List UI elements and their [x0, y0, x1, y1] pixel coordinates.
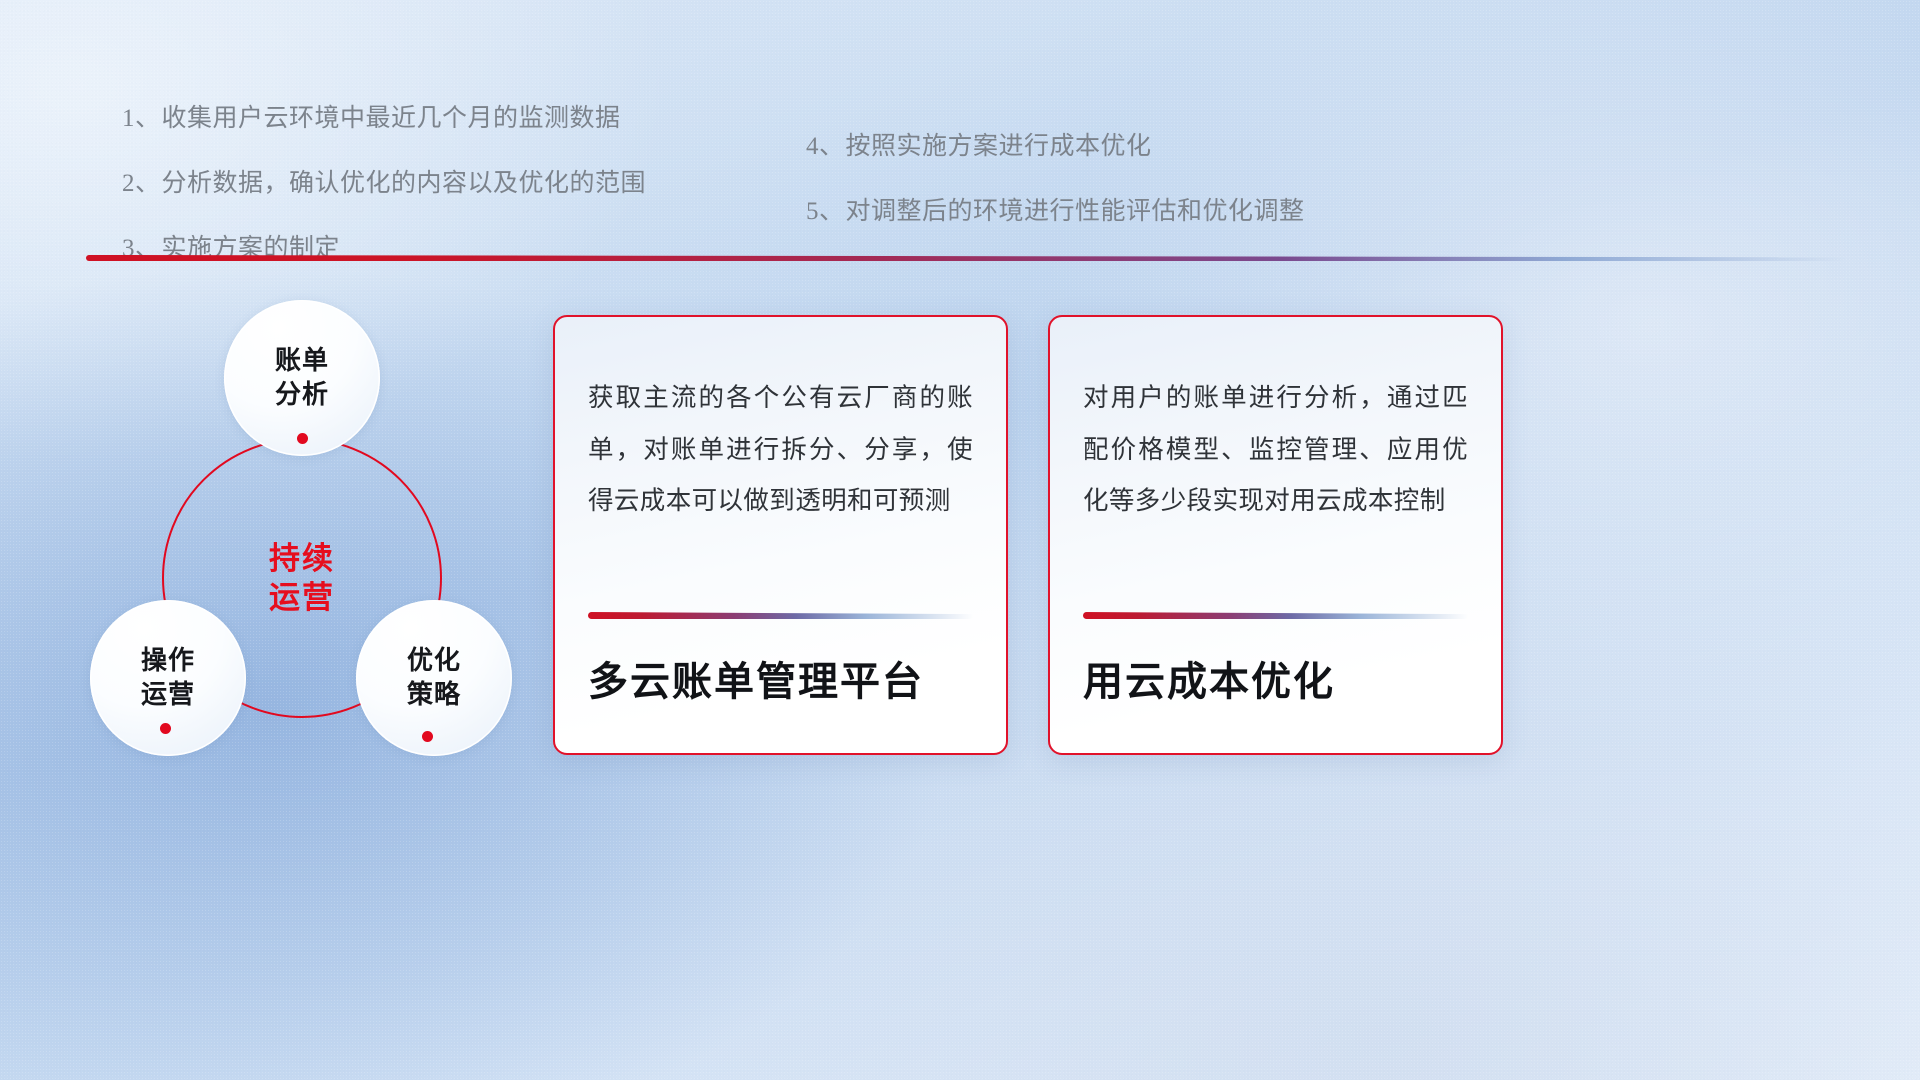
- cycle-center-label: 持续运营: [162, 438, 442, 718]
- cycle-center-line1: 持续: [269, 541, 335, 576]
- step-item: 4、 按照实施方案进行成本优化: [806, 126, 1305, 162]
- card-divider-rule: [1083, 612, 1468, 619]
- card-divider-rule: [588, 612, 973, 619]
- card-body-text: 获取主流的各个公有云厂商的账单，对账单进行拆分、分享，使得云成本可以做到透明和可…: [588, 373, 973, 528]
- card-title: 用云成本优化: [1083, 619, 1468, 753]
- bubble-label: 账单 分析: [275, 344, 329, 412]
- step-item: 1、 收集用户云环境中最近几个月的监测数据: [122, 98, 646, 134]
- step-item: 5、 对调整后的环境进行性能评估和优化调整: [806, 191, 1305, 227]
- steps-right-column: 4、 按照实施方案进行成本优化 5、 对调整后的环境进行性能评估和优化调整: [806, 126, 1305, 256]
- step-text: 收集用户云环境中最近几个月的监测数据: [162, 98, 621, 134]
- feature-card-cost-optimization[interactable]: 对用户的账单进行分析，通过匹配价格模型、监控管理、应用优化等多少段实现对用云成本…: [1048, 315, 1503, 755]
- cycle-node-dot-left: [160, 723, 171, 734]
- slide-canvas: 1、 收集用户云环境中最近几个月的监测数据 2、 分析数据，确认优化的内容以及优…: [0, 0, 1920, 1080]
- step-number: 5、: [806, 191, 845, 227]
- feature-card-multicloud-billing[interactable]: 获取主流的各个公有云厂商的账单，对账单进行拆分、分享，使得云成本可以做到透明和可…: [553, 315, 1008, 755]
- cycle-center-text: 持续运营: [269, 539, 335, 617]
- step-number: 4、: [806, 126, 845, 162]
- cycle-center-line2: 运营: [269, 580, 335, 615]
- cycle-diagram: 账单 分析 操作 运营 优化 策略 持续运营: [78, 288, 548, 768]
- step-text: 按照实施方案进行成本优化: [846, 126, 1152, 162]
- step-text: 分析数据，确认优化的内容以及优化的范围: [162, 163, 647, 199]
- step-number: 1、: [122, 98, 161, 134]
- cycle-node-dot-top: [297, 433, 308, 444]
- cycle-node-dot-right: [422, 731, 433, 742]
- bubble-label-line2: 分析: [275, 379, 329, 409]
- steps-left-column: 1、 收集用户云环境中最近几个月的监测数据 2、 分析数据，确认优化的内容以及优…: [122, 98, 646, 293]
- card-title: 多云账单管理平台: [588, 619, 973, 753]
- step-item: 2、 分析数据，确认优化的内容以及优化的范围: [122, 163, 646, 199]
- step-text: 对调整后的环境进行性能评估和优化调整: [846, 191, 1305, 227]
- bubble-label-line1: 账单: [275, 345, 329, 375]
- card-body-text: 对用户的账单进行分析，通过匹配价格模型、监控管理、应用优化等多少段实现对用云成本…: [1083, 373, 1468, 528]
- step-number: 2、: [122, 163, 161, 199]
